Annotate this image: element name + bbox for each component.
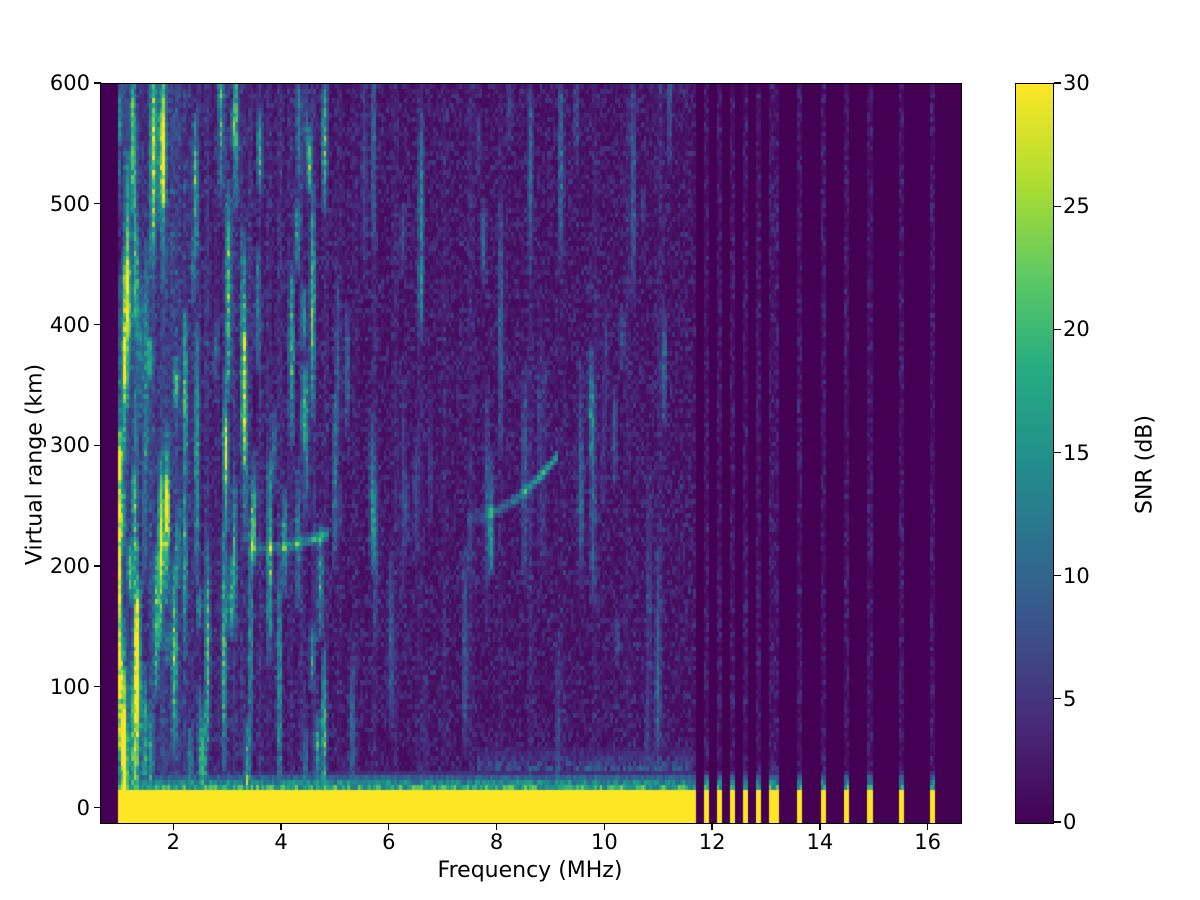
x-tick-label-8: 8 — [462, 830, 532, 854]
x-tick-label-12: 12 — [677, 830, 747, 854]
x-tick-mark-16 — [927, 823, 928, 830]
y-tick-mark-200 — [94, 565, 101, 566]
colorbar-tick-label-25: 25 — [1063, 194, 1090, 218]
x-tick-label-14: 14 — [785, 830, 855, 854]
x-tick-label-2: 2 — [138, 830, 208, 854]
y-tick-mark-0 — [94, 807, 101, 808]
colorbar-tick-mark-0 — [1054, 821, 1061, 822]
x-tick-mark-8 — [496, 823, 497, 830]
y-tick-mark-500 — [94, 203, 101, 204]
x-tick-mark-2 — [173, 823, 174, 830]
x-tick-mark-12 — [711, 823, 712, 830]
x-axis-label: Frequency (MHz) — [100, 858, 960, 883]
ionogram-figure: IRF Uppsala SDR Ionosonde UP158 2026-02-… — [0, 0, 1200, 900]
colorbar-tick-mark-5 — [1054, 698, 1061, 699]
x-tick-mark-6 — [388, 823, 389, 830]
colorbar-tick-label-5: 5 — [1063, 687, 1076, 711]
y-tick-mark-100 — [94, 686, 101, 687]
colorbar-tick-label-15: 15 — [1063, 441, 1090, 465]
colorbar-tick-label-30: 30 — [1063, 71, 1090, 95]
colorbar — [1015, 83, 1054, 824]
colorbar-tick-mark-20 — [1054, 329, 1061, 330]
x-tick-mark-10 — [604, 823, 605, 830]
y-axis-label: Virtual range (km) — [23, 215, 48, 715]
colorbar-tick-mark-15 — [1054, 452, 1061, 453]
x-tick-label-10: 10 — [569, 830, 639, 854]
y-tick-mark-300 — [94, 445, 101, 446]
colorbar-tick-mark-25 — [1054, 206, 1061, 207]
x-tick-mark-4 — [280, 823, 281, 830]
colorbar-label: SNR (dB) — [1133, 275, 1158, 655]
colorbar-tick-mark-30 — [1054, 82, 1061, 83]
colorbar-tick-label-10: 10 — [1063, 564, 1090, 588]
colorbar-tick-label-20: 20 — [1063, 317, 1090, 341]
ionogram-plot-area — [100, 83, 962, 824]
x-tick-label-6: 6 — [354, 830, 424, 854]
ionogram-heatmap-canvas — [101, 84, 961, 823]
x-tick-mark-14 — [819, 823, 820, 830]
colorbar-tick-mark-10 — [1054, 575, 1061, 576]
y-tick-label-600: 600 — [0, 71, 90, 95]
y-tick-mark-400 — [94, 324, 101, 325]
colorbar-tick-label-0: 0 — [1063, 810, 1076, 834]
x-tick-label-4: 4 — [246, 830, 316, 854]
x-tick-label-16: 16 — [893, 830, 963, 854]
y-tick-label-500: 500 — [0, 192, 90, 216]
y-tick-mark-600 — [94, 82, 101, 83]
y-tick-label-0: 0 — [0, 796, 90, 820]
